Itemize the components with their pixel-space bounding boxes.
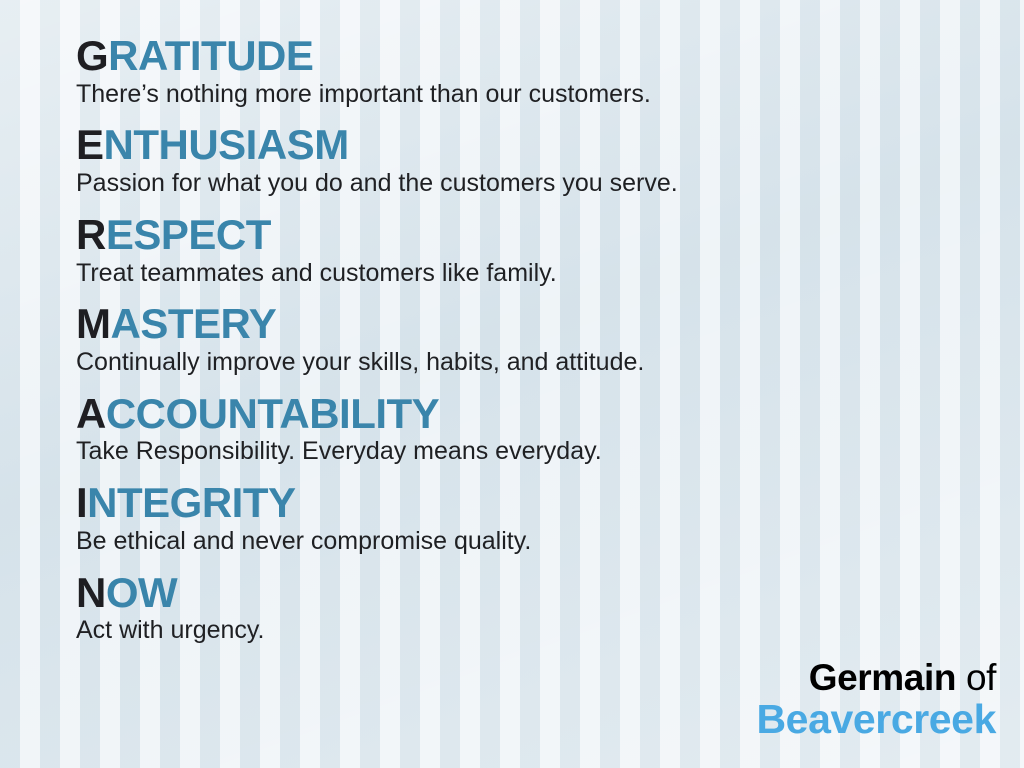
logo-connector-word: of <box>956 657 996 698</box>
value-description-mastery: Continually improve your skills, habits,… <box>76 348 1024 377</box>
value-description-accountability: Take Responsibility. Everyday means ever… <box>76 437 1024 466</box>
value-heading-enthusiasm: ENTHUSIASM <box>76 123 1024 167</box>
value-initial-letter: N <box>76 569 106 616</box>
value-heading-rest: RATITUDE <box>108 32 313 79</box>
value-initial-letter: A <box>76 390 106 437</box>
value-block-respect: RESPECT Treat teammates and customers li… <box>76 213 1024 287</box>
value-heading-rest: ESPECT <box>106 211 271 258</box>
value-block-integrity: INTEGRITY Be ethical and never compromis… <box>76 481 1024 555</box>
value-heading-integrity: INTEGRITY <box>76 481 1024 525</box>
value-block-now: NOW Act with urgency. <box>76 571 1024 645</box>
values-poster: GRATITUDE There’s nothing more important… <box>0 0 1024 768</box>
value-heading-mastery: MASTERY <box>76 302 1024 346</box>
value-heading-rest: ASTERY <box>111 300 277 347</box>
logo-brand-name: Germain <box>809 657 956 698</box>
dealership-logo: Germain of Beavercreek <box>756 659 996 740</box>
value-heading-rest: OW <box>106 569 177 616</box>
value-initial-letter: M <box>76 300 111 347</box>
value-heading-rest: NTHUSIASM <box>104 121 349 168</box>
value-block-accountability: ACCOUNTABILITY Take Responsibility. Ever… <box>76 392 1024 466</box>
value-block-mastery: MASTERY Continually improve your skills,… <box>76 302 1024 376</box>
value-block-gratitude: GRATITUDE There’s nothing more important… <box>76 34 1024 108</box>
value-description-gratitude: There’s nothing more important than our … <box>76 80 1024 109</box>
logo-line-primary: Germain of <box>756 659 996 696</box>
value-block-enthusiasm: ENTHUSIASM Passion for what you do and t… <box>76 123 1024 197</box>
value-heading-accountability: ACCOUNTABILITY <box>76 392 1024 436</box>
value-initial-letter: I <box>76 479 87 526</box>
value-description-enthusiasm: Passion for what you do and the customer… <box>76 169 1024 198</box>
value-initial-letter: E <box>76 121 104 168</box>
value-initial-letter: G <box>76 32 108 79</box>
value-heading-respect: RESPECT <box>76 213 1024 257</box>
value-heading-gratitude: GRATITUDE <box>76 34 1024 78</box>
value-heading-rest: CCOUNTABILITY <box>106 390 439 437</box>
value-heading-rest: NTEGRITY <box>87 479 295 526</box>
value-heading-now: NOW <box>76 571 1024 615</box>
logo-location-name: Beavercreek <box>756 699 996 740</box>
value-description-integrity: Be ethical and never compromise quality. <box>76 527 1024 556</box>
value-description-respect: Treat teammates and customers like famil… <box>76 259 1024 288</box>
value-description-now: Act with urgency. <box>76 616 1024 645</box>
values-list: GRATITUDE There’s nothing more important… <box>0 0 1024 645</box>
value-initial-letter: R <box>76 211 106 258</box>
